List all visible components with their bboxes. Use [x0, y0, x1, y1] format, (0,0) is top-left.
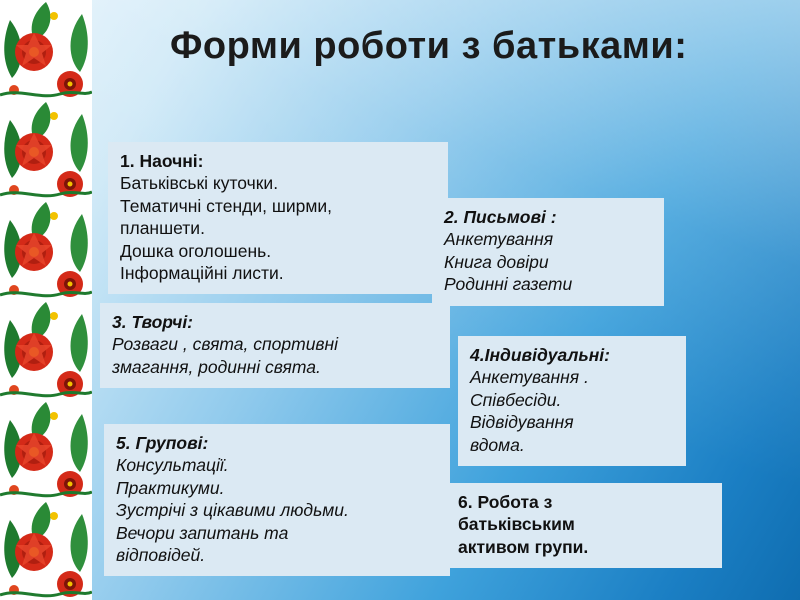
box-6-line-1: батьківським [458, 513, 710, 535]
content-box-4: 4.Індивідуальні: Анкетування . Співбесід… [458, 336, 686, 466]
box-5-line-2: Практикуми. [116, 477, 438, 499]
content-box-6: 6. Робота з батьківським активом групи. [446, 483, 722, 568]
box-2-line-1: Анкетування [444, 228, 652, 250]
box-5-line-5: відповідей. [116, 544, 438, 566]
box-5-line-1: Консультації. [116, 454, 438, 476]
box-1-line-2: Тематичні стенди, ширми, [120, 195, 436, 217]
box-2-line-2: Книга довіри [444, 251, 652, 273]
content-box-1: 1. Наочні: Батьківські куточки. Тематичн… [108, 142, 448, 294]
box-1-line-1: Батьківські куточки. [120, 172, 436, 194]
box-3-heading: 3. Творчі: [112, 311, 438, 333]
content-box-3: 3. Творчі: Розваги , свята, спортивні зм… [100, 303, 450, 388]
content-box-2: 2. Письмові : Анкетування Книга довіри Р… [432, 198, 664, 306]
box-4-line-2: Співбесіди. [470, 389, 674, 411]
box-5-heading: 5. Групові: [116, 432, 438, 454]
box-1-line-5: Інформаційні листи. [120, 262, 436, 284]
box-2-line-3: Родинні газети [444, 273, 652, 295]
box-5-line-4: Вечори запитань та [116, 522, 438, 544]
box-1-line-3: планшети. [120, 217, 436, 239]
ukrainian-floral-border-decoration [0, 0, 92, 600]
box-2-heading: 2. Письмові : [444, 206, 652, 228]
box-4-line-4: вдома. [470, 434, 674, 456]
box-4-heading: 4.Індивідуальні: [470, 344, 674, 366]
box-6-heading: 6. Робота з [458, 491, 710, 513]
box-3-line-1: Розваги , свята, спортивні [112, 333, 438, 355]
box-3-line-2: змагання, родинні свята. [112, 356, 438, 378]
box-4-line-1: Анкетування . [470, 366, 674, 388]
slide-title: Форми роботи з батьками: [170, 24, 730, 69]
content-box-5: 5. Групові: Консультації. Практикуми. Зу… [104, 424, 450, 576]
box-4-line-3: Відвідування [470, 411, 674, 433]
box-5-line-3: Зустрічі з цікавими людьми. [116, 499, 438, 521]
box-6-line-2: активом групи. [458, 536, 710, 558]
box-1-heading: 1. Наочні: [120, 150, 436, 172]
box-1-line-4: Дошка оголошень. [120, 240, 436, 262]
slide-canvas: Форми роботи з батьками: 1. Наочні: Бать… [0, 0, 800, 600]
